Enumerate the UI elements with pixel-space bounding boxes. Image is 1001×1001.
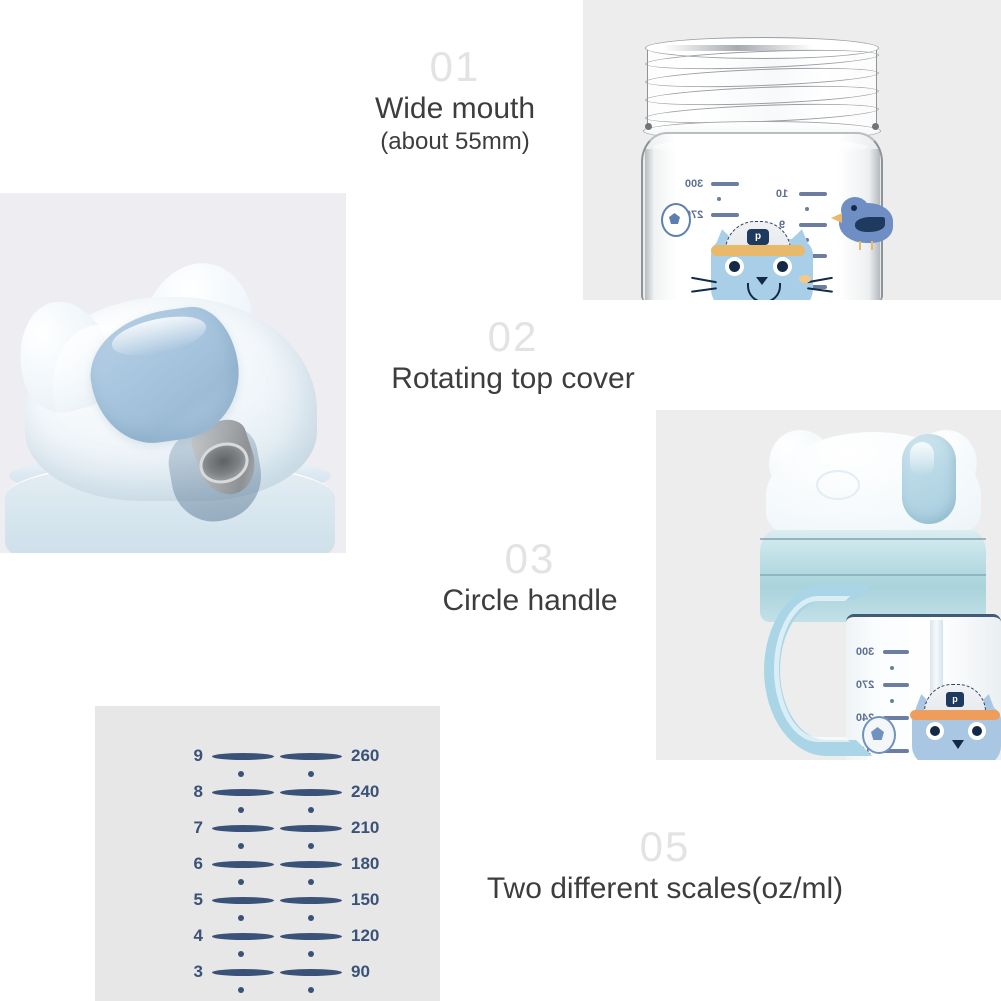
cap-logo: p xyxy=(946,692,964,707)
scale-tick xyxy=(711,213,739,217)
bird-leg xyxy=(859,241,861,250)
football-patch xyxy=(871,727,884,740)
feature-subtitle: (about 55mm) xyxy=(350,128,560,157)
football-graphic xyxy=(661,203,691,237)
button-highlight xyxy=(910,442,934,476)
bird-leg xyxy=(871,241,873,250)
feature-block-01: 01 Wide mouth (about 55mm) xyxy=(350,46,560,156)
scale-major-tick xyxy=(212,753,274,760)
feature-number: 02 xyxy=(358,316,668,358)
scale-major-row: 260 xyxy=(280,746,379,766)
scale-minor-tick xyxy=(681,192,739,206)
scale-minor-tick xyxy=(280,802,379,818)
scale-minor-tick xyxy=(185,946,274,962)
scale-major-tick xyxy=(280,789,342,796)
scale-major-tick xyxy=(212,897,274,904)
scale-major-row: 9 xyxy=(185,746,274,766)
bottle-notch xyxy=(645,123,652,130)
scale-value: 260 xyxy=(351,746,379,766)
scale-minor-tick xyxy=(280,982,379,998)
dual-scale-diagram: 98765432 2602402101801501209060 xyxy=(95,706,440,1001)
scale-major-tick xyxy=(212,789,274,796)
circle-handle-cup-photo: 300 270 240 10 xyxy=(656,410,1001,760)
scale-value: 6 xyxy=(185,854,203,874)
scale-major-tick xyxy=(280,753,342,760)
scale-major-row: 180 xyxy=(280,854,379,874)
scale-value: 150 xyxy=(351,890,379,910)
scale-major-tick xyxy=(280,933,342,940)
scale-minor-tick xyxy=(280,838,379,854)
scale-minor-tick xyxy=(185,802,274,818)
scale-label: 10 xyxy=(769,188,795,200)
scale-value: 120 xyxy=(351,926,379,946)
scale-value: 7 xyxy=(185,818,203,838)
scale-tick xyxy=(711,182,739,186)
scale-row: 10 xyxy=(769,185,827,202)
infographic-page: 300 270 10 9 xyxy=(0,0,1001,1001)
cat-pupil-left xyxy=(729,261,740,272)
bottle-notch xyxy=(872,123,879,130)
scale-value: 9 xyxy=(185,746,203,766)
oz-scale-column: 98765432 xyxy=(185,746,274,1001)
scale-minor-tick xyxy=(280,766,379,782)
scale-tick xyxy=(883,650,909,654)
scale-major-row: 90 xyxy=(280,962,379,982)
feature-number: 03 xyxy=(400,538,660,580)
scale-minor-tick xyxy=(280,874,379,890)
bird-eye xyxy=(851,205,857,211)
bottle-shoulder-highlight xyxy=(653,139,868,155)
scale-minor-tick xyxy=(769,202,827,216)
scale-major-tick xyxy=(280,861,342,868)
scale-label: 300 xyxy=(681,178,707,190)
feature-title: Two different scales(oz/ml) xyxy=(445,872,885,906)
scale-minor-tick xyxy=(185,874,274,890)
scale-major-tick xyxy=(212,861,274,868)
scale-major-row: 210 xyxy=(280,818,379,838)
feature-block-03: 03 Circle handle xyxy=(400,538,660,618)
cat-character-graphic: p xyxy=(906,686,1001,760)
scale-value: 90 xyxy=(351,962,370,982)
scale-major-row: 5 xyxy=(185,890,274,910)
bottle-edge-shade-left xyxy=(645,149,654,300)
scale-major-row: 150 xyxy=(280,890,379,910)
scale-value: 180 xyxy=(351,854,379,874)
scale-major-tick xyxy=(212,825,274,832)
bird-wing xyxy=(855,217,885,232)
scale-minor-tick xyxy=(185,838,274,854)
football-patch xyxy=(669,213,680,224)
feature-title: Wide mouth xyxy=(350,92,560,126)
feature-title: Rotating top cover xyxy=(358,362,668,396)
scale-major-row: 4 xyxy=(185,926,274,946)
scale-row: 300 xyxy=(681,175,739,192)
scale-major-row: 240 xyxy=(280,782,379,802)
scale-minor-tick xyxy=(185,910,274,926)
cap-brim xyxy=(711,245,805,256)
feature-number: 01 xyxy=(350,46,560,88)
cat-pupil-right xyxy=(777,261,788,272)
scale-major-tick xyxy=(212,969,274,976)
cat-nose xyxy=(952,740,964,749)
bird-beak xyxy=(831,213,842,223)
scale-value: 4 xyxy=(185,926,203,946)
scale-minor-tick xyxy=(185,766,274,782)
scale-minor-tick xyxy=(185,982,274,998)
scale-major-row: 8 xyxy=(185,782,274,802)
scale-major-tick xyxy=(280,825,342,832)
thread-highlight xyxy=(663,45,813,51)
wide-mouth-bottle-photo: 300 270 10 9 xyxy=(583,0,1001,300)
rotating-top-cover-photo xyxy=(0,193,346,553)
cat-character-graphic: p xyxy=(703,217,821,300)
scale-tick xyxy=(799,192,827,196)
circle-handle-illustration: 300 270 240 10 xyxy=(656,410,1001,760)
cap-logo: p xyxy=(747,229,769,245)
scale-major-tick xyxy=(280,897,342,904)
scale-major-row: 7 xyxy=(185,818,274,838)
scale-major-row: 120 xyxy=(280,926,379,946)
bird-character-graphic xyxy=(839,195,901,249)
scale-value: 5 xyxy=(185,890,203,910)
collar-seam xyxy=(760,574,986,576)
feature-block-05: 05 Two different scales(oz/ml) xyxy=(445,826,885,906)
scale-value: 240 xyxy=(351,782,379,802)
scale-value: 3 xyxy=(185,962,203,982)
scale-major-row: 3 xyxy=(185,962,274,982)
scale-minor-tick xyxy=(280,946,379,962)
cat-cheek xyxy=(799,275,811,283)
feature-block-02: 02 Rotating top cover xyxy=(358,316,668,396)
lid-emboss-swirl xyxy=(816,470,860,500)
scale-minor-tick xyxy=(280,910,379,926)
cat-mouth xyxy=(747,283,781,300)
scale-major-tick xyxy=(212,933,274,940)
cat-pupil-left xyxy=(930,726,940,736)
top-cover-illustration xyxy=(0,193,346,553)
scale-value: 8 xyxy=(185,782,203,802)
scale-major-tick xyxy=(280,969,342,976)
ml-scale-column: 2602402101801501209060 xyxy=(280,746,379,1001)
scale-major-row: 6 xyxy=(185,854,274,874)
scale-value: 210 xyxy=(351,818,379,838)
cap-brim xyxy=(910,710,1000,720)
collar-seam xyxy=(760,538,986,540)
bottle-illustration: 300 270 10 9 xyxy=(583,0,1001,300)
cat-pupil-right xyxy=(972,726,982,736)
feature-title: Circle handle xyxy=(400,584,660,618)
feature-number: 05 xyxy=(445,826,885,868)
